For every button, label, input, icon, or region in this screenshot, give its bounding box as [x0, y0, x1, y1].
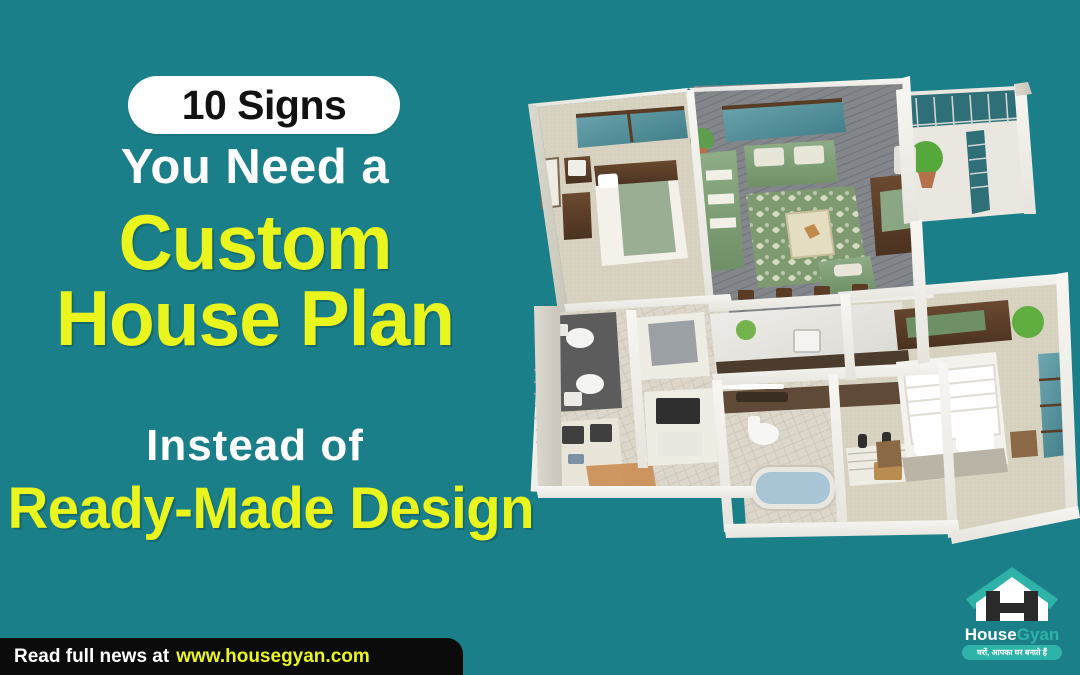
island-plant-icon: [736, 320, 756, 340]
banner-website-url[interactable]: www.housegyan.com: [176, 646, 370, 668]
floor-plan-svg: [498, 62, 1080, 557]
poster-canvas: 10 Signs You Need a Custom House Plan In…: [0, 0, 1080, 675]
banner-lead-text: Read full news at: [14, 646, 169, 668]
logo-wordmark: HouseGyan: [956, 626, 1068, 643]
master-nightstand-right-icon: [1010, 430, 1038, 458]
read-more-banner[interactable]: Read full news at www.housegyan.com: [0, 638, 463, 675]
housegyan-logo[interactable]: HouseGyan घरों, आपका घर बनाते हैं: [956, 563, 1068, 663]
master-plant-icon: [1012, 306, 1044, 338]
logo-tagline-text: घरों, आपका घर बनाते हैं: [977, 647, 1047, 658]
headline-line-4: Instead of: [0, 424, 510, 468]
headline-line-1: You Need a: [0, 142, 510, 193]
headline-line-3: House Plan: [10, 281, 500, 357]
logo-word-house: House: [965, 625, 1017, 644]
logo-word-gyan: Gyan: [1017, 625, 1060, 644]
headline-column: 10 Signs You Need a Custom House Plan In…: [0, 0, 510, 620]
dresser-icon: [562, 192, 592, 240]
signs-count-badge: 10 Signs: [128, 76, 400, 134]
master-nightstand-left-icon: [876, 440, 902, 468]
badge-label: 10 Signs: [182, 85, 347, 126]
headline-line-5: Ready-Made Design: [8, 480, 503, 538]
headline-line-2: Custom: [10, 205, 500, 281]
sink-icon: [794, 330, 820, 352]
logo-tagline-pill: घरों, आपका घर बनाते हैं: [962, 645, 1062, 660]
headline-yellow-block: Custom House Plan: [0, 205, 510, 356]
floor-plan-illustration: [498, 62, 1080, 557]
house-with-h-icon: [956, 563, 1068, 625]
